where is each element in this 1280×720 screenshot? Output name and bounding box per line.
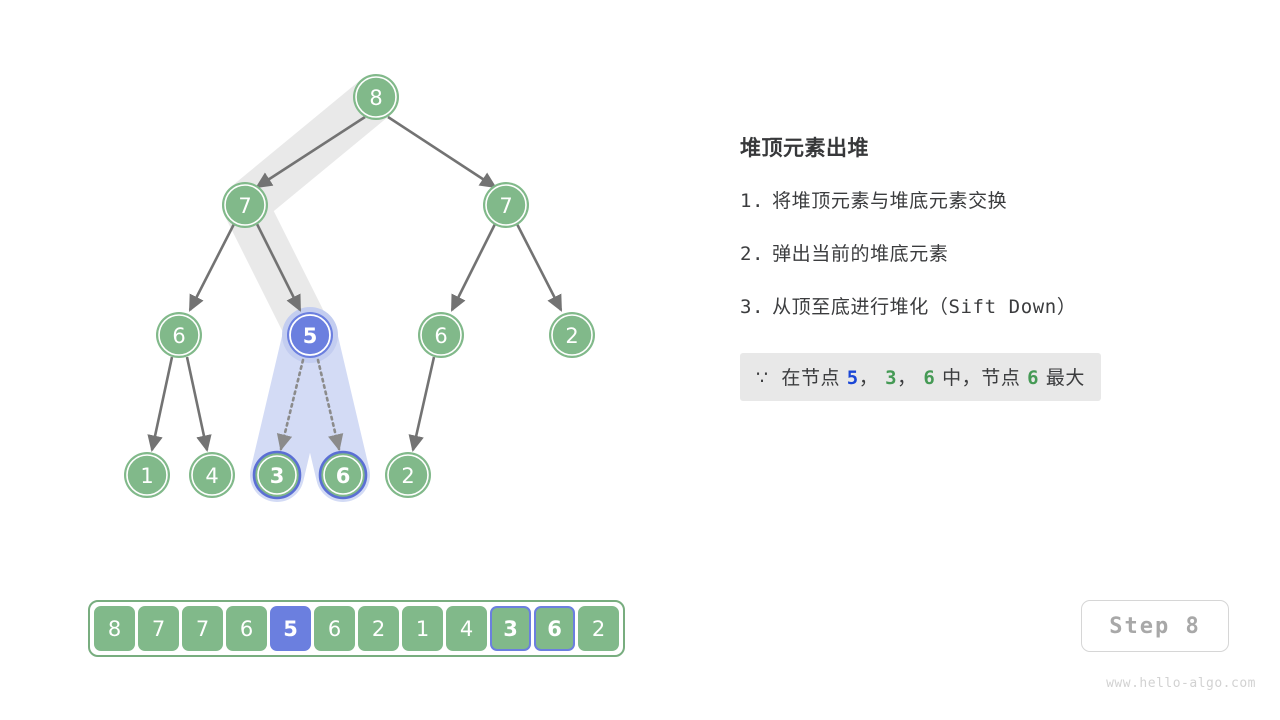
array-cell-3[interactable]: 6 [226,606,267,651]
tree-node-4[interactable]: 4 [189,452,235,498]
page-title: 堆顶元素出堆 [740,132,1210,162]
step-index: 2. [740,243,764,265]
tree-node-label: 2 [565,324,578,348]
tree-node-label: 7 [499,194,512,218]
array-cell-4[interactable]: 5 [270,606,311,651]
heap-array-strip: 8 7 7 6 5 6 2 1 4 3 6 2 [88,600,625,657]
tree-node-label: 5 [303,324,318,348]
because-symbol: ∵ [756,367,769,389]
conclusion-text-part1: 在节点 [781,367,840,389]
conclusion-sep1: ， [859,367,879,389]
tree-node-label: 1 [140,464,153,488]
step-text: 弹出当前的堆底元素 [772,243,948,265]
conclusion-sep2: ， [897,367,917,389]
tree-node-5-selected[interactable]: 5 [287,312,333,358]
heap-tree-svg: 8 7 7 6 5 [0,0,700,560]
tree-node-label: 8 [369,86,382,110]
array-cell-2[interactable]: 7 [182,606,223,651]
array-cell-7[interactable]: 1 [402,606,443,651]
tree-node-label: 6 [172,324,185,348]
tree-node-label: 7 [238,194,251,218]
tree-node-6-b[interactable]: 6 [418,312,464,358]
conclusion-callout: ∵ 在节点 5， 3， 6 中，节点 6 最大 [740,353,1101,401]
status-badge: Step 8 [1081,600,1229,652]
tree-node-label: 3 [270,464,285,488]
tree-node-6-a[interactable]: 6 [156,312,202,358]
step-item-1: 1.将堆顶元素与堆底元素交换 [740,186,1210,213]
tree-node-7-right[interactable]: 7 [483,182,529,228]
step-index: 1. [740,190,764,212]
tree-node-3-compared[interactable]: 3 [254,452,300,498]
watermark: www.hello-algo.com [1106,676,1256,691]
explanation-panel: 堆顶元素出堆 1.将堆顶元素与堆底元素交换 2.弹出当前的堆底元素 3.从顶至底… [740,132,1210,401]
array-cell-8[interactable]: 4 [446,606,487,651]
tree-node-8[interactable]: 8 [353,74,399,120]
step-text: 将堆顶元素与堆底元素交换 [772,190,1007,212]
step-item-3: 3.从顶至底进行堆化（Sift Down） [740,292,1210,319]
tree-node-6-compared[interactable]: 6 [320,452,366,498]
tree-node-label: 6 [434,324,447,348]
tree-node-2-a[interactable]: 2 [549,312,595,358]
array-cell-0[interactable]: 8 [94,606,135,651]
visualization-stage: 8 7 7 6 5 [0,0,1280,720]
step-item-2: 2.弹出当前的堆底元素 [740,239,1210,266]
step-text: 从顶至底进行堆化（Sift Down） [772,296,1076,318]
tree-node-7-left[interactable]: 7 [222,182,268,228]
array-cell-1[interactable]: 7 [138,606,179,651]
conclusion-text-part2: 中，节点 [942,367,1020,389]
tree-node-label: 4 [205,464,218,488]
step-index: 3. [740,296,764,318]
conclusion-node-6: 6 [923,367,935,389]
tree-node-2-b[interactable]: 2 [385,452,431,498]
tree-node-label: 6 [336,464,351,488]
array-cell-10[interactable]: 6 [534,606,575,651]
array-cell-6[interactable]: 2 [358,606,399,651]
array-cell-11[interactable]: 2 [578,606,619,651]
conclusion-node-3: 3 [885,367,897,389]
conclusion-text-part3: 最大 [1046,367,1085,389]
conclusion-max-node: 6 [1027,367,1039,389]
tree-edges [152,117,561,450]
conclusion-node-5: 5 [847,367,859,389]
tree-node-1[interactable]: 1 [124,452,170,498]
array-cell-9[interactable]: 3 [490,606,531,651]
array-cell-5[interactable]: 6 [314,606,355,651]
tree-node-label: 2 [401,464,414,488]
